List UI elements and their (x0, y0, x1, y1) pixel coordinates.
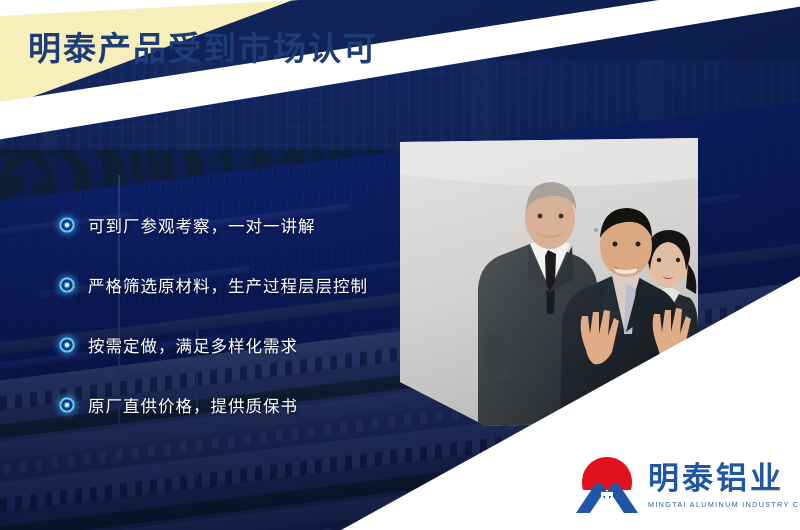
list-item-label: 可到厂参观考察，一对一讲解 (88, 213, 316, 237)
company-logo: 明泰铝业 MINGTAI ALUMINUM INDUSTRY CO., LTD (574, 455, 800, 517)
target-circle-icon (58, 336, 76, 354)
page-title: 明泰产品受到市场认可 (28, 22, 378, 70)
promo-banner: 明泰产品受到市场认可 可到厂参观考察，一对一讲解 严格筛选原材料，生产过程层层控… (0, 0, 800, 530)
list-item: 按需定做，满足多样化需求 (58, 328, 398, 362)
list-item: 严格筛选原材料，生产过程层层控制 (58, 268, 398, 302)
target-circle-icon (58, 216, 76, 234)
list-item: 原厂直供价格，提供质保书 (58, 388, 398, 422)
list-item-label: 按需定做，满足多样化需求 (88, 333, 298, 357)
logo-company-name-cn: 明泰铝业 (648, 464, 800, 495)
target-circle-icon (58, 396, 76, 414)
logo-company-name-en: MINGTAI ALUMINUM INDUSTRY CO., LTD (648, 500, 800, 509)
feature-list: 可到厂参观考察，一对一讲解 严格筛选原材料，生产过程层层控制 按需定做，满足多样… (58, 208, 398, 448)
target-circle-icon (58, 276, 76, 294)
list-item: 可到厂参观考察，一对一讲解 (58, 208, 398, 242)
mingtai-sun-mountain-icon (574, 455, 640, 517)
list-item-label: 原厂直供价格，提供质保书 (88, 393, 298, 417)
list-item-label: 严格筛选原材料，生产过程层层控制 (88, 273, 368, 297)
logo-text-block: 明泰铝业 MINGTAI ALUMINUM INDUSTRY CO., LTD (648, 464, 800, 509)
